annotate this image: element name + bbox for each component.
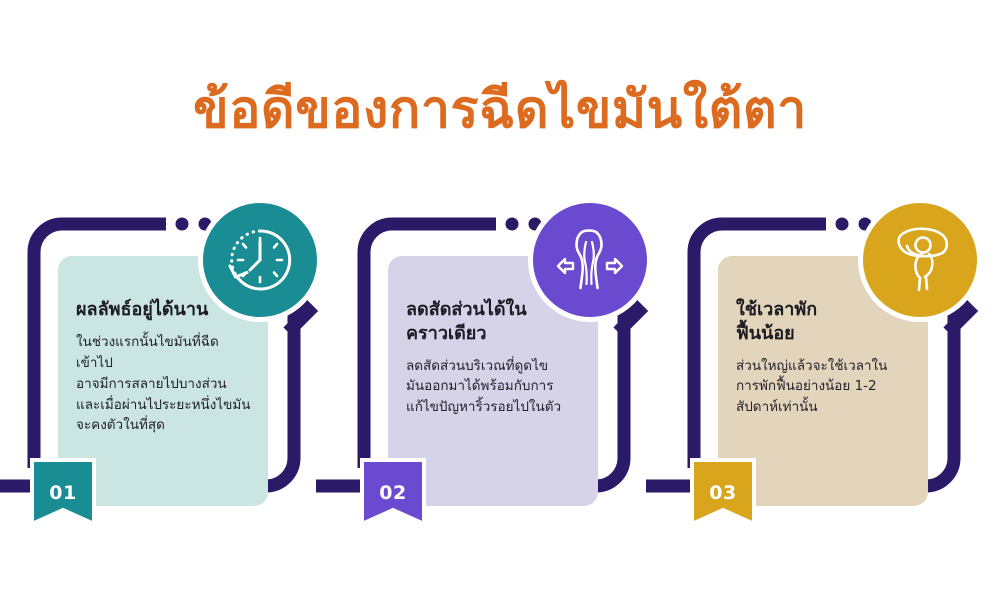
step-number-1: 01	[32, 482, 94, 504]
step-icon-badge-3	[858, 198, 982, 322]
step-ribbon-2: 02	[362, 460, 424, 538]
step-block-2: ลดสัดส่วนได้ใน คราวเดียว ลดสัดส่วนบริเวณ…	[346, 198, 676, 568]
path-dot	[506, 218, 519, 231]
step-ribbon-1: 01	[32, 460, 94, 538]
step-block-3: ใช้เวลาพัก ฟื้นน้อย ส่วนใหญ่แล้วจะใช้เวล…	[676, 198, 1000, 568]
step-number-3: 03	[692, 482, 754, 504]
path-dot	[176, 218, 189, 231]
infographic-canvas: ข้อดีของการฉีดไขมันใต้ตา ผลลัพธ์อยู่ได้น…	[0, 0, 1000, 600]
step-body-2: ลดสัดส่วนบริเวณที่ดูดไข มันออกมาได้พร้อม…	[406, 356, 582, 419]
clock-history-icon	[222, 222, 298, 298]
step-body-3: ส่วนใหญ่แล้วจะใช้เวลาใน การพักฟื้นอย่างน…	[736, 356, 912, 419]
person-resting-icon	[882, 222, 958, 298]
page-title: ข้อดีของการฉีดไขมันใต้ตา	[0, 82, 1000, 139]
step-block-1: ผลลัพธ์อยู่ได้นาน ในช่วงแรกนั้นไขมันที่ฉ…	[16, 198, 346, 568]
step-body-1: ในช่วงแรกนั้นไขมันที่ฉีดเข้าไป อาจมีการส…	[76, 332, 252, 437]
step-ribbon-3: 03	[692, 460, 754, 538]
step-icon-badge-1	[198, 198, 322, 322]
path-dot	[836, 218, 849, 231]
step-icon-badge-2	[528, 198, 652, 322]
step-number-2: 02	[362, 482, 424, 504]
body-slimming-icon	[552, 222, 628, 298]
